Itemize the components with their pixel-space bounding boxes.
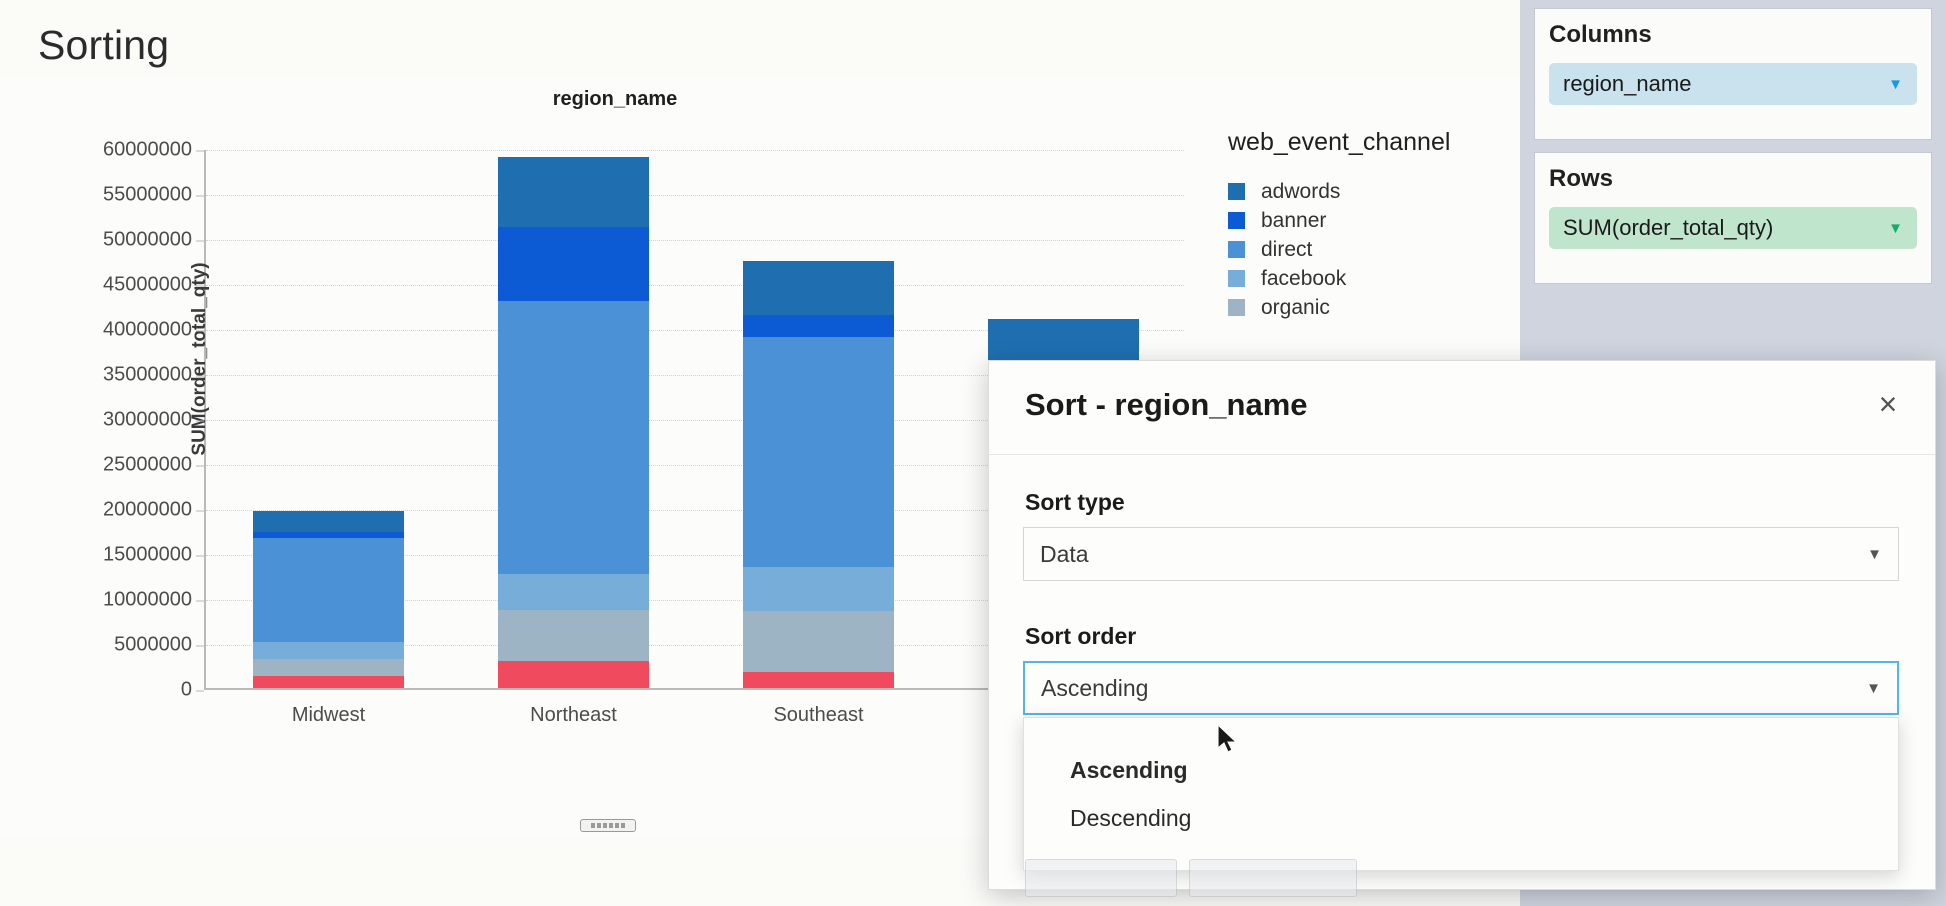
bar-segment-organic[interactable] <box>743 611 895 672</box>
legend-swatch-icon <box>1228 212 1245 229</box>
rows-heading: Rows <box>1549 165 1931 193</box>
app-root: Sorting region_name SUM(order_total_qty)… <box>0 0 1946 906</box>
sort-order-option-ascending[interactable]: Ascending <box>1024 746 1898 794</box>
y-axis-tick-label: 25000000 <box>103 454 192 477</box>
y-axis-tick-label: 0 <box>181 679 192 702</box>
sort-order-option-descending[interactable]: Descending <box>1024 794 1898 842</box>
bar-stack-Northeast[interactable] <box>498 148 650 688</box>
y-axis-tick-label: 30000000 <box>103 409 192 432</box>
chevron-down-icon: ▼ <box>1867 546 1882 563</box>
chevron-down-icon[interactable]: ▼ <box>1888 76 1903 93</box>
sort-type-label: Sort type <box>1025 489 1125 516</box>
legend-swatch-icon <box>1228 270 1245 287</box>
bar-segment-banner[interactable] <box>253 532 405 537</box>
legend-swatch-icon <box>1228 299 1245 316</box>
y-axis-tick-label: 60000000 <box>103 139 192 162</box>
chart-legend: web_event_channel adwordsbannerdirectfac… <box>1228 128 1518 391</box>
sort-order-label: Sort order <box>1025 623 1136 650</box>
bar-segment-direct[interactable] <box>253 538 405 642</box>
y-axis-tick-label: 20000000 <box>103 499 192 522</box>
bar-segment-organic[interactable] <box>498 610 650 661</box>
bar-segment-banner[interactable] <box>498 227 650 301</box>
sort-order-value: Ascending <box>1041 675 1148 702</box>
bar-segment-facebook[interactable] <box>498 574 650 610</box>
bar-segment-twitter[interactable] <box>253 676 405 688</box>
y-axis-tick-label: 50000000 <box>103 229 192 252</box>
legend-item-adwords[interactable]: adwords <box>1228 177 1518 206</box>
bar-segment-adwords[interactable] <box>498 157 650 227</box>
columns-shelf: Columns region_name ▼ <box>1534 8 1932 140</box>
legend-item-label: adwords <box>1261 180 1340 204</box>
y-axis-tick-label: 45000000 <box>103 274 192 297</box>
x-axis-tick-label: Midwest <box>292 704 365 727</box>
sort-dialog-header: Sort - region_name × <box>989 361 1935 455</box>
legend-item-facebook[interactable]: facebook <box>1228 264 1518 293</box>
sort-type-select[interactable]: Data ▼ <box>1023 527 1899 581</box>
dialog-secondary-button[interactable] <box>1025 859 1177 897</box>
columns-field-label: region_name <box>1563 71 1691 97</box>
legend-item-direct[interactable]: direct <box>1228 235 1518 264</box>
legend-item-label: direct <box>1261 238 1312 262</box>
legend-item-label: banner <box>1261 209 1326 233</box>
x-axis-tick-label: Northeast <box>530 704 617 727</box>
sort-order-dropdown[interactable]: AscendingDescending <box>1023 717 1899 871</box>
rows-field-pill[interactable]: SUM(order_total_qty) ▼ <box>1549 207 1917 249</box>
page-title: Sorting <box>38 22 169 69</box>
bar-stack-Midwest[interactable] <box>253 148 405 688</box>
bar-segment-adwords[interactable] <box>743 261 895 316</box>
sort-type-value: Data <box>1040 541 1089 568</box>
bar-segment-facebook[interactable] <box>253 642 405 659</box>
bar-stack-Southeast[interactable] <box>743 148 895 688</box>
rows-shelf: Rows SUM(order_total_qty) ▼ <box>1534 152 1932 284</box>
legend-item-organic[interactable]: organic <box>1228 293 1518 322</box>
y-axis-tick-label: 10000000 <box>103 589 192 612</box>
y-axis-tick-label: 35000000 <box>103 364 192 387</box>
mouse-cursor <box>1218 725 1240 757</box>
chart-resize-handle[interactable] <box>580 819 636 832</box>
x-axis-tick-label: Southeast <box>773 704 863 727</box>
close-icon[interactable]: × <box>1871 387 1905 421</box>
legend-items: adwordsbannerdirectfacebookorganic <box>1228 177 1518 391</box>
y-axis-tick-label: 5000000 <box>114 634 192 657</box>
chevron-down-icon: ▼ <box>1866 680 1881 697</box>
legend-item-label: facebook <box>1261 267 1346 291</box>
legend-title: web_event_channel <box>1228 128 1518 157</box>
rows-field-label: SUM(order_total_qty) <box>1563 215 1773 241</box>
dialog-primary-button[interactable] <box>1189 859 1357 897</box>
columns-field-pill[interactable]: region_name ▼ <box>1549 63 1917 105</box>
chart-title: region_name <box>0 88 1230 111</box>
bar-segment-adwords[interactable] <box>988 319 1140 366</box>
bar-segment-direct[interactable] <box>498 301 650 574</box>
legend-swatch-icon <box>1228 241 1245 258</box>
legend-swatch-icon <box>1228 183 1245 200</box>
bar-segment-banner[interactable] <box>743 315 895 337</box>
legend-item-label: organic <box>1261 296 1330 320</box>
bar-segment-direct[interactable] <box>743 337 895 567</box>
legend-item-banner[interactable]: banner <box>1228 206 1518 235</box>
bar-segment-adwords[interactable] <box>253 511 405 533</box>
y-axis-tick-label: 40000000 <box>103 319 192 342</box>
sort-dialog: Sort - region_name × Sort type Data ▼ So… <box>988 360 1936 890</box>
sort-order-select[interactable]: Ascending ▼ <box>1023 661 1899 715</box>
bar-segment-twitter[interactable] <box>498 661 650 688</box>
y-axis-tick-label: 15000000 <box>103 544 192 567</box>
bar-segment-facebook[interactable] <box>743 567 895 610</box>
bar-segment-twitter[interactable] <box>743 672 895 688</box>
sort-dialog-actions <box>989 859 1935 906</box>
sort-dialog-title: Sort - region_name <box>1025 387 1308 423</box>
columns-heading: Columns <box>1549 21 1931 49</box>
y-axis-tick-label: 55000000 <box>103 184 192 207</box>
bar-segment-organic[interactable] <box>253 659 405 676</box>
chevron-down-icon[interactable]: ▼ <box>1888 220 1903 237</box>
